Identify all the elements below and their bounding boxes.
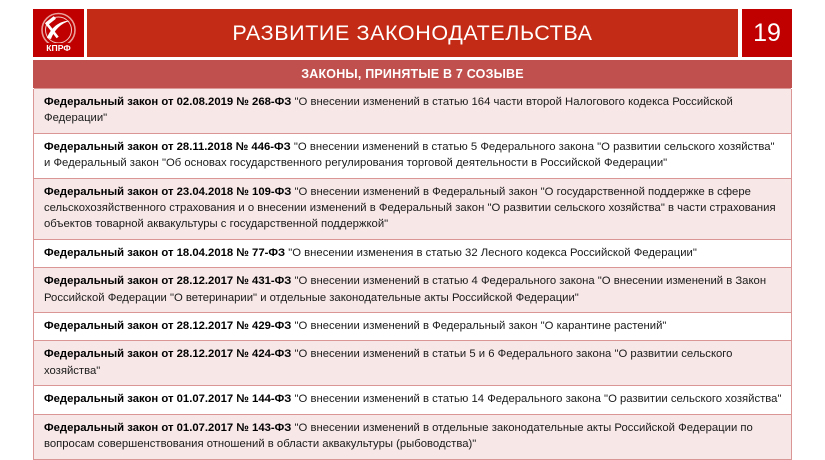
slide-root: КПРФ РАЗВИТИЕ ЗАКОНОДАТЕЛЬСТВА 19 ЗАКОНЫ…: [0, 0, 825, 453]
table-row: Федеральный закон от 28.12.2017 № 431-ФЗ…: [34, 267, 791, 313]
law-reference: Федеральный закон от 28.12.2017 № 429-ФЗ: [44, 320, 291, 332]
law-reference: Федеральный закон от 28.12.2017 № 431-ФЗ: [44, 275, 291, 287]
page-title: РАЗВИТИЕ ЗАКОНОДАТЕЛЬСТВА: [87, 9, 738, 57]
table-row: Федеральный закон от 28.11.2018 № 446-ФЗ…: [34, 133, 791, 179]
table-row: Федеральный закон от 23.04.2018 № 109-ФЗ…: [34, 178, 791, 240]
law-description: "О внесении изменения в статью 32 Лесног…: [288, 247, 697, 259]
hammer-sickle-book-icon: КПРФ: [33, 9, 84, 57]
slide-header: КПРФ РАЗВИТИЕ ЗАКОНОДАТЕЛЬСТВА 19: [33, 9, 792, 57]
table-row: Федеральный закон от 28.12.2017 № 429-ФЗ…: [34, 312, 791, 341]
law-reference: Федеральный закон от 18.04.2018 № 77-ФЗ: [44, 247, 285, 259]
law-reference: Федеральный закон от 28.11.2018 № 446-ФЗ: [44, 141, 291, 153]
law-reference: Федеральный закон от 02.08.2019 № 268-ФЗ: [44, 96, 291, 108]
law-description: "О внесении изменений в Федеральный зако…: [295, 320, 667, 332]
law-reference: Федеральный закон от 01.07.2017 № 144-ФЗ: [44, 393, 291, 405]
kprf-logo: КПРФ: [33, 9, 84, 57]
table-row: Федеральный закон от 01.07.2017 № 144-ФЗ…: [34, 385, 791, 414]
section-subtitle: ЗАКОНЫ, ПРИНЯТЫЕ В 7 СОЗЫВЕ: [33, 60, 792, 88]
law-description: "О внесении изменений в статью 14 Федера…: [295, 393, 782, 405]
law-reference: Федеральный закон от 23.04.2018 № 109-ФЗ: [44, 186, 291, 198]
svg-text:КПРФ: КПРФ: [46, 43, 71, 53]
table-row: Федеральный закон от 02.08.2019 № 268-ФЗ…: [34, 88, 791, 134]
laws-table: Федеральный закон от 02.08.2019 № 268-ФЗ…: [33, 89, 792, 460]
page-number-badge: 19: [742, 9, 792, 57]
table-row: Федеральный закон от 18.04.2018 № 77-ФЗ …: [34, 239, 791, 268]
table-row: Федеральный закон от 28.12.2017 № 424-ФЗ…: [34, 340, 791, 386]
law-reference: Федеральный закон от 01.07.2017 № 143-ФЗ: [44, 422, 291, 434]
law-reference: Федеральный закон от 28.12.2017 № 424-ФЗ: [44, 348, 291, 360]
